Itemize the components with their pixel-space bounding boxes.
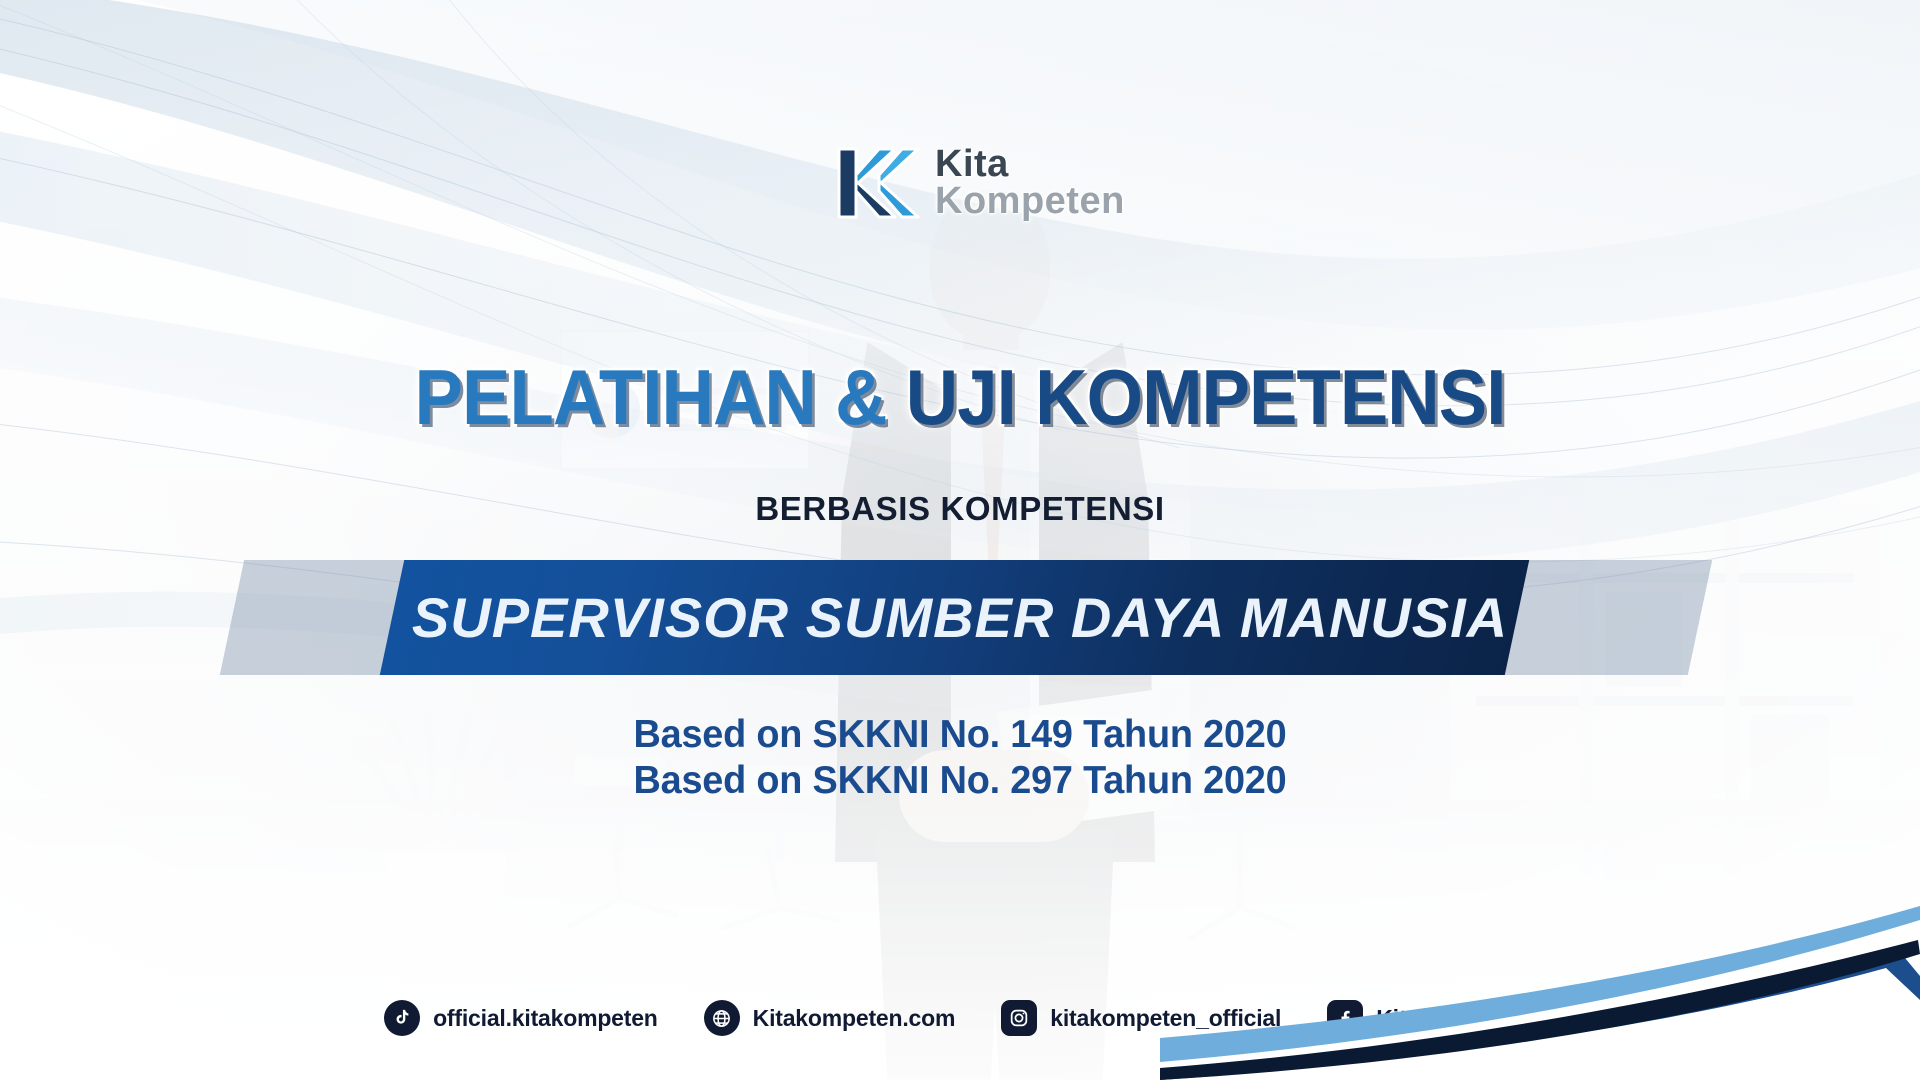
title-part-uji-kompetensi: UJI KOMPETENSI bbox=[906, 353, 1506, 441]
social-link-website[interactable]: Kitakompeten.com bbox=[704, 1000, 956, 1036]
role-banner: SUPERVISOR SUMBER DAYA MANUSIA bbox=[0, 560, 1920, 675]
social-handle: Kitakompeten.com bbox=[753, 1005, 956, 1032]
social-handle: official.kitakompeten bbox=[433, 1005, 658, 1032]
globe-icon bbox=[704, 1000, 740, 1036]
logo-line-kita: Kita bbox=[935, 146, 1125, 183]
social-handle: Kita Kompeten bbox=[1376, 1005, 1536, 1032]
tiktok-icon bbox=[384, 1000, 420, 1036]
social-handle: kitakompeten_official bbox=[1050, 1005, 1281, 1032]
subtitle: BERBASIS KOMPETENSI bbox=[0, 490, 1920, 528]
social-link-tiktok[interactable]: official.kitakompeten bbox=[384, 1000, 658, 1036]
banner-title: SUPERVISOR SUMBER DAYA MANUSIA bbox=[0, 560, 1920, 675]
title-part-pelatihan: PELATIHAN & bbox=[415, 353, 906, 441]
skkni-reference-block: Based on SKKNI No. 149 Tahun 2020 Based … bbox=[0, 712, 1920, 804]
instagram-icon bbox=[1001, 1000, 1037, 1036]
social-links-bar: official.kitakompeten Kitakompeten.com bbox=[0, 1000, 1920, 1036]
poster-canvas: Kita Kompeten PELATIHAN & UJI KOMPETENSI… bbox=[0, 0, 1920, 1080]
brand-logo[interactable]: Kita Kompeten bbox=[835, 145, 1125, 221]
logo-line-kompeten: Kompeten bbox=[935, 183, 1125, 220]
page-title: PELATIHAN & UJI KOMPETENSI bbox=[67, 358, 1853, 436]
skkni-line: Based on SKKNI No. 149 Tahun 2020 bbox=[29, 712, 1891, 758]
facebook-icon bbox=[1327, 1000, 1363, 1036]
social-link-instagram[interactable]: kitakompeten_official bbox=[1001, 1000, 1281, 1036]
social-link-facebook[interactable]: Kita Kompeten bbox=[1327, 1000, 1536, 1036]
skkni-line: Based on SKKNI No. 297 Tahun 2020 bbox=[29, 758, 1891, 804]
kk-monogram-icon bbox=[835, 145, 921, 221]
brand-logo-text: Kita Kompeten bbox=[935, 146, 1125, 220]
